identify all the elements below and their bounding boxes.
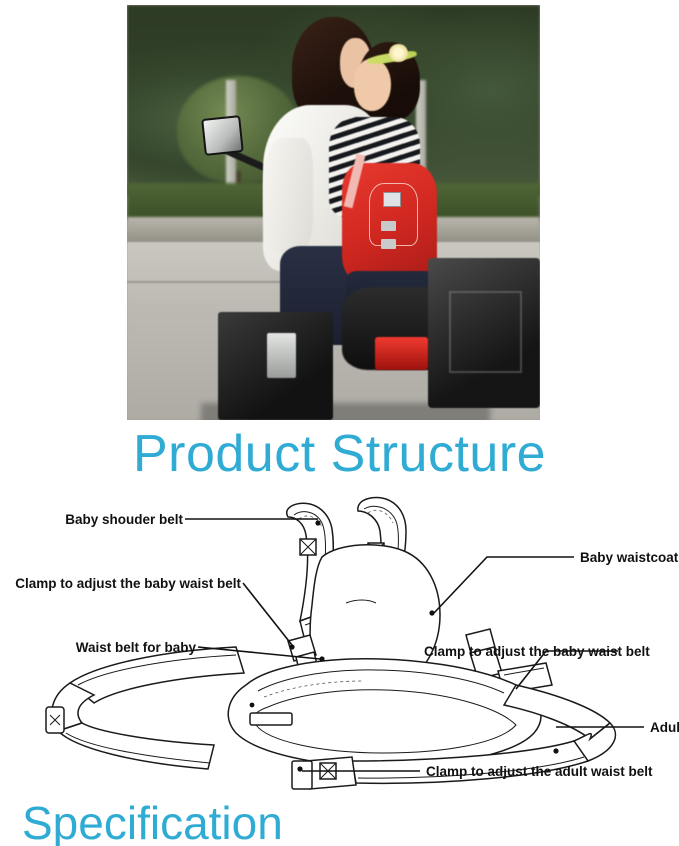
rider-arm — [263, 138, 313, 254]
leader-clamp-baby-waist-left — [243, 583, 292, 645]
photo-scene — [127, 5, 540, 420]
pannier-right — [428, 258, 540, 407]
product-structure-diagram: Baby shouder belt Clamp to adjust the ba… — [0, 495, 679, 795]
rear-view-mirror — [202, 115, 245, 156]
vest-reflector-upper — [381, 221, 396, 231]
next-section-heading: Specification — [22, 800, 283, 846]
vest-logo-patch — [383, 192, 401, 207]
pannier-latch — [267, 333, 296, 379]
page-title: Product Structure — [0, 428, 679, 480]
label-baby-waistcoat: Baby waistcoat — [580, 550, 679, 565]
product-photo — [127, 5, 540, 420]
label-clamp-baby-waist-right: Clamp to adjust the baby waist belt — [424, 644, 650, 659]
label-clamp-baby-waist-left: Clamp to adjust the baby waist belt — [15, 576, 241, 591]
vest-reflector-lower — [381, 239, 396, 249]
leader-baby-waistcoat — [434, 557, 574, 613]
label-baby-shoulder-belt: Baby shouder belt — [65, 512, 183, 527]
tail-light — [375, 337, 429, 370]
flower-icon — [389, 44, 408, 61]
label-waist-belt-for-baby: Waist belt for baby — [76, 640, 197, 655]
label-clamp-adult-waist: Clamp to adjust the adult waist belt — [426, 764, 653, 779]
label-adult-waist-belt: Adult waist belt — [650, 720, 679, 735]
child-face — [354, 59, 391, 111]
